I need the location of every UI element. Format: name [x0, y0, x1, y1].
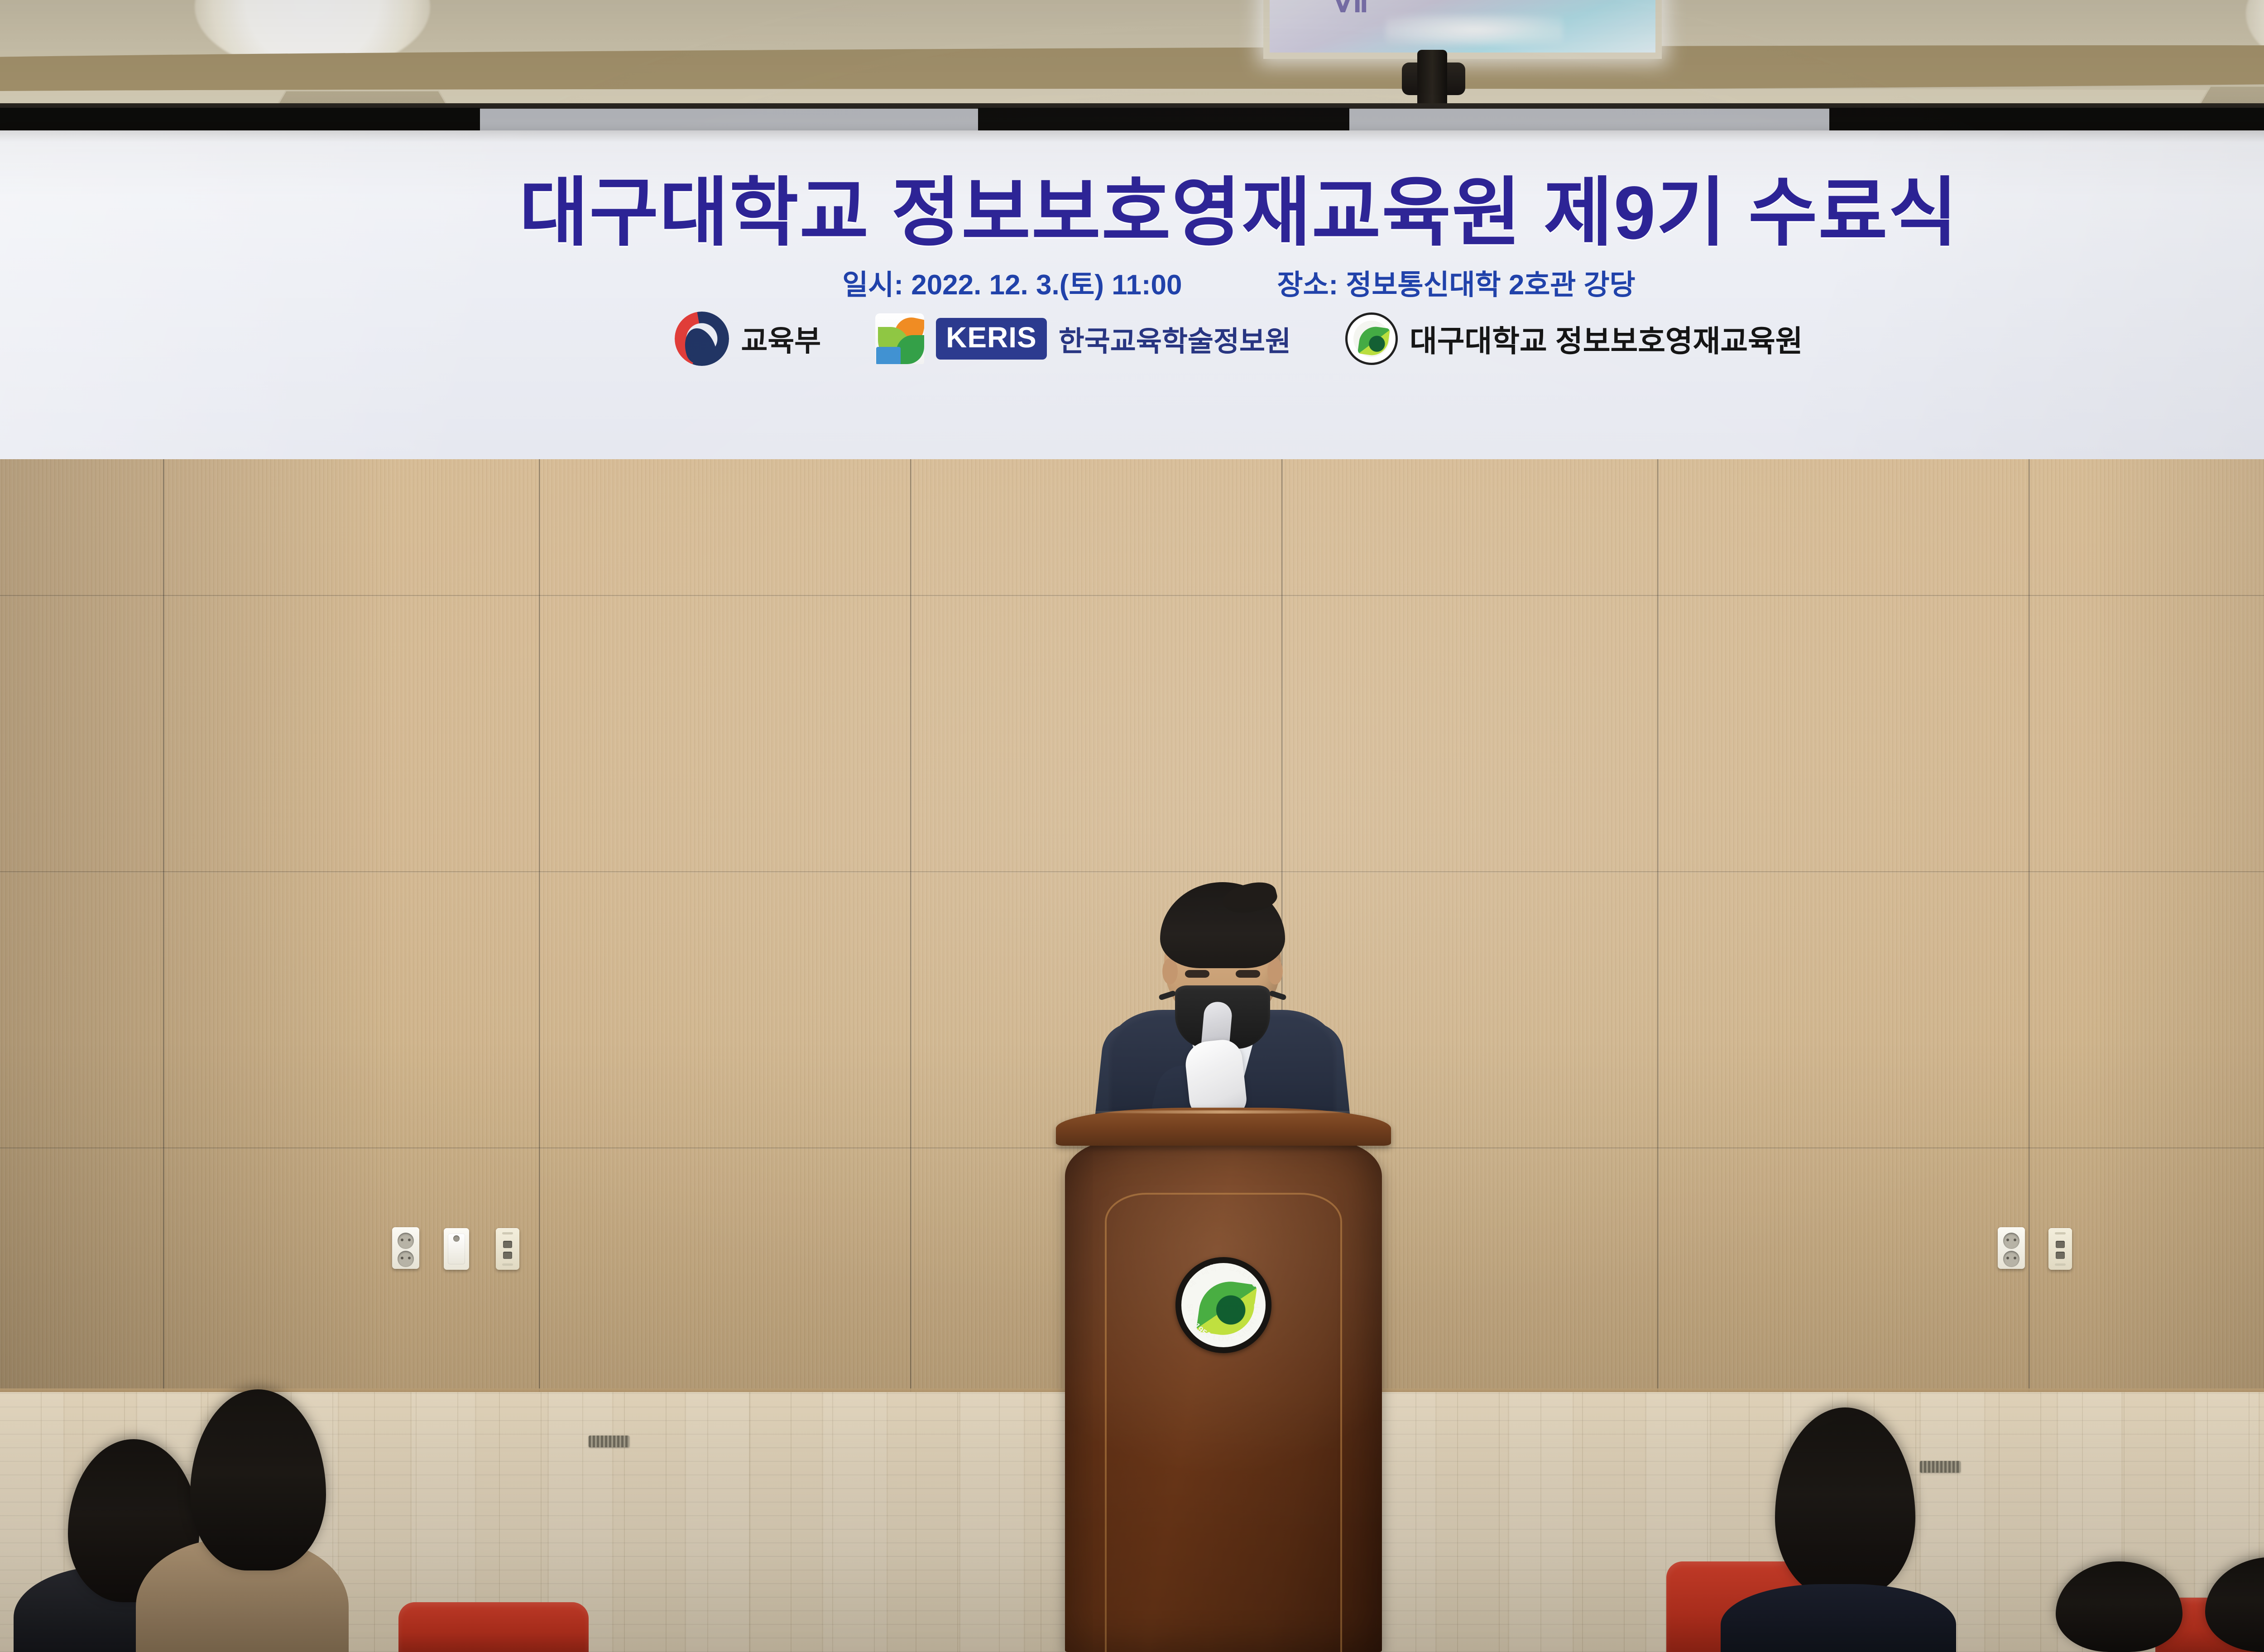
audience-head	[1775, 1407, 1915, 1598]
speaker-ear-right	[1267, 958, 1283, 984]
power-outlet-icon[interactable]	[1998, 1227, 2025, 1269]
keris-badge: KERIS	[936, 318, 1047, 360]
speaker	[1082, 874, 1363, 1128]
sponsor-daegu-label: 대구대학교 정보보호영재교육원	[1410, 317, 1803, 360]
sponsor-keris: KERIS 한국교육학술정보원	[875, 313, 1291, 364]
mask-strap-right	[1269, 990, 1287, 1000]
banner-subtitle-row: 일시: 2022. 12. 3.(토) 11:00 장소: 정보통신대학 2호관…	[0, 262, 2264, 303]
seal-arc-top: 대구대학교 DAEGU	[1186, 1263, 1261, 1290]
audience-head	[190, 1389, 326, 1570]
wall-seam	[163, 459, 164, 1419]
wall-seam	[539, 459, 540, 1419]
daegu-university-seal-icon	[1345, 312, 1398, 365]
wall-seam	[1657, 459, 1659, 1419]
banner-sponsor-row: 교육부 KERIS 한국교육학술정보원 대구대학교 정보보호영재교육원	[0, 312, 2264, 366]
banner-title: 대구대학교 정보보호영재교육원 제9기 수료식	[0, 151, 2264, 260]
wall-seam	[910, 459, 911, 1419]
photo-scene: Ⅶ 대구대학교 정보보호영재교육원 제9기 수료식 일시: 2022. 12. …	[0, 0, 2264, 1652]
speaker-eye-left	[1185, 970, 1209, 978]
daegu-university-seal-icon: 대구대학교 DAEGU UNIVERSITY 1956 LOVE·LIGHT·F…	[1175, 1257, 1271, 1353]
podium-top-ledge	[1056, 1108, 1391, 1146]
banner-location: 장소: 정보통신대학 2호관 강당	[1277, 262, 1635, 303]
audience-shoulders	[1721, 1584, 1956, 1652]
data-jack-icon[interactable]	[2048, 1228, 2072, 1270]
power-outlet-icon[interactable]	[392, 1227, 419, 1269]
sponsor-keris-label: 한국교육학술정보원	[1059, 318, 1291, 359]
audience-head	[2056, 1561, 2182, 1652]
wall-seam	[0, 871, 2264, 873]
event-banner: 대구대학교 정보보호영재교육원 제9기 수료식 일시: 2022. 12. 3.…	[0, 130, 2264, 460]
sponsor-daegu-university: 대구대학교 정보보호영재교육원	[1345, 312, 1803, 365]
wall-seam	[2029, 459, 2030, 1419]
audience	[0, 1398, 2264, 1652]
speaker-hair	[1160, 882, 1285, 968]
wall-seam	[0, 595, 2264, 596]
speaker-eye-right	[1236, 970, 1260, 978]
sponsor-moe-label: 교육부	[741, 318, 821, 360]
light-switch-icon[interactable]	[444, 1228, 469, 1270]
seal-ring-text: 대구대학교 DAEGU UNIVERSITY 1956 LOVE·LIGHT·F…	[1175, 1257, 1271, 1353]
data-jack-icon[interactable]	[496, 1228, 519, 1270]
skylight-glint	[1386, 15, 1563, 44]
banner-datetime: 일시: 2022. 12. 3.(토) 11:00	[842, 262, 1182, 303]
skylight-reflection-mark: Ⅶ	[1331, 0, 1372, 20]
svg-text:대구대학교 DAEGU: 대구대학교 DAEGU	[1186, 1263, 1261, 1290]
skylight-icon: Ⅶ	[1263, 0, 1662, 59]
moe-taegeuk-icon	[675, 312, 729, 366]
seat	[398, 1602, 589, 1652]
sponsor-moe: 교육부	[675, 312, 821, 366]
keris-leaf-icon	[875, 313, 924, 364]
mask-strap-left	[1158, 990, 1176, 1000]
